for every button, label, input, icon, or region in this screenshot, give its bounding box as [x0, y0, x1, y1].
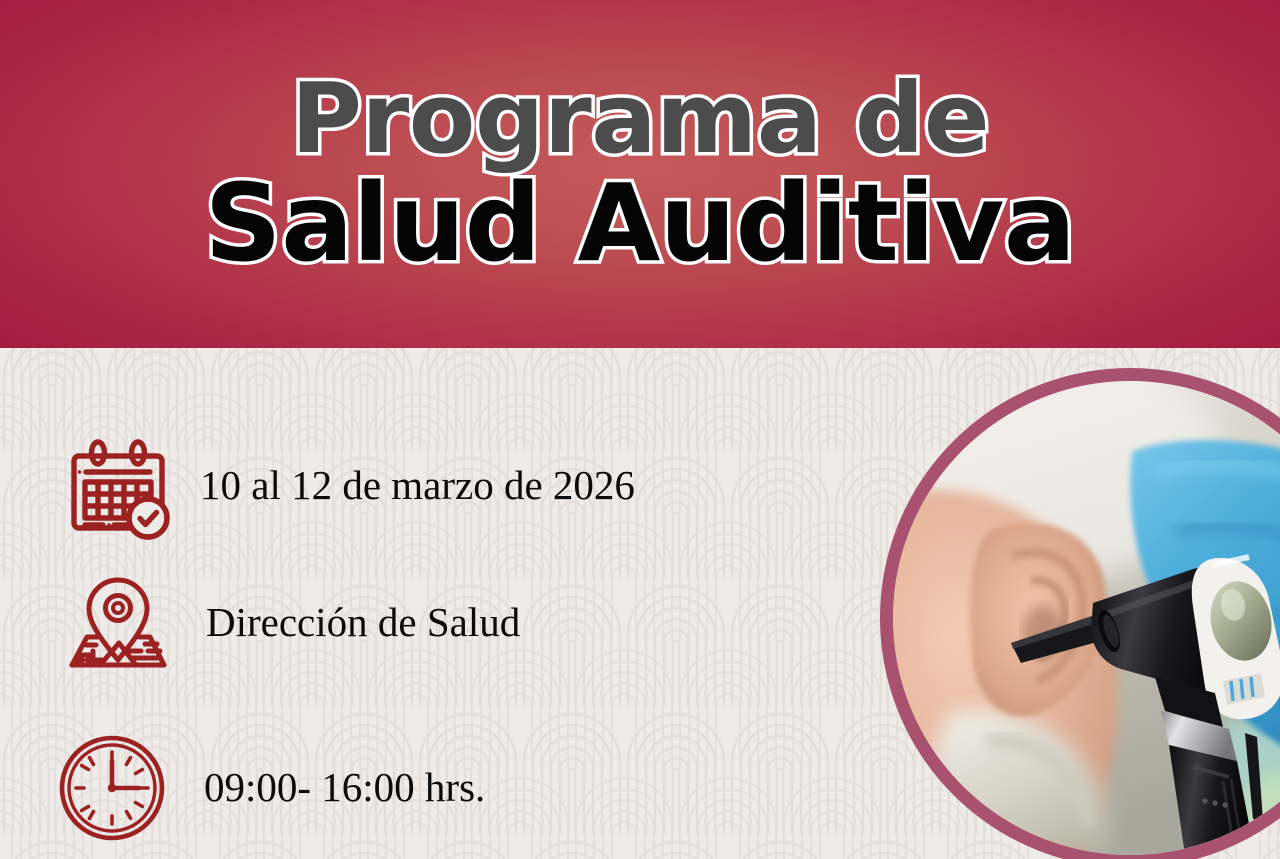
poster-info-list: 10 al 12 de marzo de 2026 [0, 348, 900, 859]
map-pin-location-icon [58, 567, 178, 679]
poster-header-band: Programa de Salud Auditiva [0, 0, 1280, 348]
info-row-place: Dirección de Salud [58, 563, 520, 683]
clock-icon [52, 732, 172, 844]
info-row-date: 10 al 12 de marzo de 2026 [58, 426, 635, 546]
calendar-check-icon [58, 430, 178, 542]
otoscope-ear-examination-photo [893, 381, 1280, 855]
poster-canvas: Programa de Salud Auditiva [0, 0, 1280, 859]
photo-circle [880, 368, 1280, 859]
poster-title-line-2: Salud Auditiva [205, 172, 1076, 277]
info-row-time-label: 09:00- 16:00 hrs. [204, 766, 485, 809]
photo-circle-ring [880, 368, 1280, 859]
poster-title-block: Programa de Salud Auditiva [0, 0, 1280, 348]
info-row-time: 09:00- 16:00 hrs. [52, 728, 485, 848]
info-row-date-label: 10 al 12 de marzo de 2026 [200, 464, 635, 507]
poster-title-line-1: Programa de [291, 71, 989, 166]
photo-circle-image-clip [893, 381, 1280, 855]
info-row-place-label: Dirección de Salud [206, 601, 520, 644]
